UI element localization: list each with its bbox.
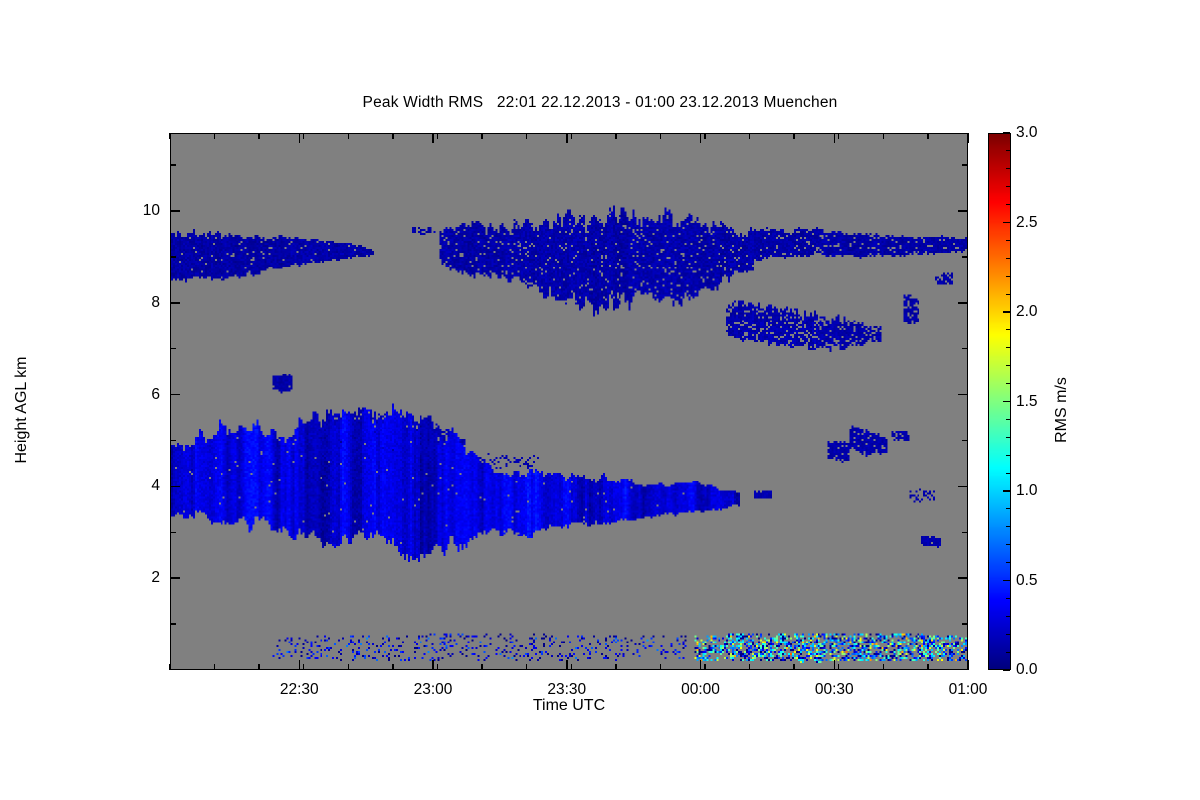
- x-minor-tick-top: [615, 133, 616, 139]
- x-minor-tick: [214, 664, 215, 670]
- colorbar-minor-tick: [1006, 240, 1010, 241]
- x-major-tick-top: [967, 133, 969, 143]
- colorbar-major-tick: [1003, 222, 1010, 224]
- colorbar-minor-tick: [1006, 634, 1010, 635]
- y-major-tick-right: [958, 577, 968, 579]
- x-major-tick-top: [834, 133, 836, 143]
- y-minor-tick-right: [962, 440, 968, 441]
- x-minor-tick: [392, 664, 393, 670]
- x-minor-tick: [615, 664, 616, 670]
- y-major-tick-right: [958, 394, 968, 396]
- colorbar-axis-title: RMS m/s: [1053, 310, 1071, 510]
- colorbar-minor-tick: [1006, 544, 1010, 545]
- x-minor-tick-top: [927, 133, 928, 139]
- y-major-tick-right: [958, 486, 968, 488]
- x-major-tick: [834, 660, 836, 670]
- x-minor-tick: [749, 664, 750, 670]
- y-minor-tick-right: [962, 164, 968, 165]
- x-minor-tick: [258, 664, 259, 670]
- x-minor-tick: [793, 664, 794, 670]
- y-axis-title: Height AGL km: [13, 310, 31, 510]
- x-minor-tick-top: [526, 133, 527, 139]
- y-major-tick-right: [958, 302, 968, 304]
- x-minor-tick: [169, 664, 170, 670]
- y-tick-label: 8: [108, 294, 160, 312]
- x-minor-tick-top: [481, 133, 482, 139]
- colorbar-minor-tick: [1006, 473, 1010, 474]
- colorbar-tick-label: 3.0: [1016, 124, 1038, 142]
- colorbar-minor-tick: [1006, 526, 1010, 527]
- x-major-tick: [566, 660, 568, 670]
- x-minor-tick-top: [437, 133, 438, 139]
- colorbar-minor-tick: [1006, 383, 1010, 384]
- x-minor-tick-top: [392, 133, 393, 139]
- colorbar-minor-tick: [1006, 294, 1010, 295]
- x-major-tick: [299, 660, 301, 670]
- colorbar-tick-label: 2.0: [1016, 303, 1038, 321]
- y-major-tick: [170, 394, 180, 396]
- x-tick-label: 00:00: [681, 681, 720, 699]
- colorbar-tick-label: 1.0: [1016, 482, 1038, 500]
- x-minor-tick-top: [749, 133, 750, 139]
- colorbar-minor-tick: [1006, 168, 1010, 169]
- x-minor-tick: [660, 664, 661, 670]
- colorbar-major-tick: [1003, 132, 1010, 134]
- colorbar-minor-tick: [1006, 365, 1010, 366]
- colorbar-minor-tick: [1006, 276, 1010, 277]
- y-major-tick: [170, 210, 180, 212]
- colorbar-minor-tick: [1006, 419, 1010, 420]
- colorbar-tick-label: 2.5: [1016, 214, 1038, 232]
- x-minor-tick: [348, 664, 349, 670]
- x-tick-label: 22:30: [280, 681, 319, 699]
- x-minor-tick-top: [214, 133, 215, 139]
- colorbar-minor-tick: [1006, 616, 1010, 617]
- colorbar-minor-tick: [1006, 329, 1010, 330]
- colorbar-major-tick: [1003, 401, 1010, 403]
- y-major-tick-right: [958, 210, 968, 212]
- y-minor-tick: [170, 623, 176, 624]
- x-major-tick: [432, 660, 434, 670]
- x-tick-label: 01:00: [949, 681, 988, 699]
- colorbar-minor-tick: [1006, 508, 1010, 509]
- y-minor-tick: [170, 440, 176, 441]
- chart-figure: Peak Width RMS 22:01 22.12.2013 - 01:00 …: [0, 0, 1200, 800]
- colorbar-major-tick: [1003, 490, 1010, 492]
- colorbar-tick-label: 1.5: [1016, 393, 1038, 411]
- y-tick-label: 6: [108, 386, 160, 404]
- x-minor-tick-top: [660, 133, 661, 139]
- x-minor-tick: [481, 664, 482, 670]
- x-minor-tick-top: [348, 133, 349, 139]
- y-minor-tick: [170, 256, 176, 257]
- x-tick-label: 23:00: [414, 681, 453, 699]
- colorbar-minor-tick: [1006, 150, 1010, 151]
- x-minor-tick: [526, 664, 527, 670]
- x-major-tick-top: [432, 133, 434, 143]
- y-major-tick: [170, 577, 180, 579]
- y-tick-label: 10: [108, 202, 160, 220]
- x-minor-tick: [437, 664, 438, 670]
- y-minor-tick-right: [962, 256, 968, 257]
- colorbar-minor-tick: [1006, 598, 1010, 599]
- colorbar-minor-tick: [1006, 652, 1010, 653]
- y-tick-label: 2: [108, 569, 160, 587]
- colorbar-tick-label: 0.5: [1016, 572, 1038, 590]
- colorbar-minor-tick: [1006, 562, 1010, 563]
- y-major-tick: [170, 302, 180, 304]
- x-minor-tick-top: [793, 133, 794, 139]
- x-minor-tick-top: [838, 133, 839, 139]
- y-minor-tick: [170, 164, 176, 165]
- x-major-tick-top: [566, 133, 568, 143]
- x-minor-tick: [571, 664, 572, 670]
- x-minor-tick-top: [571, 133, 572, 139]
- x-minor-tick: [883, 664, 884, 670]
- y-minor-tick-right: [962, 532, 968, 533]
- y-minor-tick-right: [962, 623, 968, 624]
- x-tick-label: 00:30: [815, 681, 854, 699]
- y-tick-label: 4: [108, 477, 160, 495]
- colorbar-major-tick: [1003, 311, 1010, 313]
- x-tick-label: 23:30: [547, 681, 586, 699]
- chart-title: Peak Width RMS 22:01 22.12.2013 - 01:00 …: [0, 94, 1200, 112]
- y-minor-tick-right: [962, 348, 968, 349]
- x-major-tick-top: [700, 133, 702, 143]
- colorbar-major-tick: [1003, 580, 1010, 582]
- x-minor-tick-top: [704, 133, 705, 139]
- x-minor-tick: [927, 664, 928, 670]
- heatmap-plot-area[interactable]: [170, 133, 968, 670]
- x-minor-tick: [303, 664, 304, 670]
- colorbar-major-tick: [1003, 669, 1010, 671]
- x-major-tick: [967, 660, 969, 670]
- x-minor-tick-top: [883, 133, 884, 139]
- heatmap-canvas: [171, 134, 967, 669]
- y-minor-tick: [170, 532, 176, 533]
- x-minor-tick-top: [169, 133, 170, 139]
- y-minor-tick: [170, 348, 176, 349]
- x-major-tick-top: [299, 133, 301, 143]
- x-minor-tick-top: [258, 133, 259, 139]
- colorbar-minor-tick: [1006, 437, 1010, 438]
- colorbar-tick-label: 0.0: [1016, 661, 1038, 679]
- colorbar-minor-tick: [1006, 347, 1010, 348]
- x-minor-tick: [704, 664, 705, 670]
- colorbar-minor-tick: [1006, 204, 1010, 205]
- colorbar-minor-tick: [1006, 258, 1010, 259]
- x-axis-title: Time UTC: [170, 697, 968, 715]
- x-minor-tick: [838, 664, 839, 670]
- x-major-tick: [700, 660, 702, 670]
- colorbar-minor-tick: [1006, 455, 1010, 456]
- x-minor-tick-top: [303, 133, 304, 139]
- colorbar-minor-tick: [1006, 186, 1010, 187]
- y-major-tick: [170, 486, 180, 488]
